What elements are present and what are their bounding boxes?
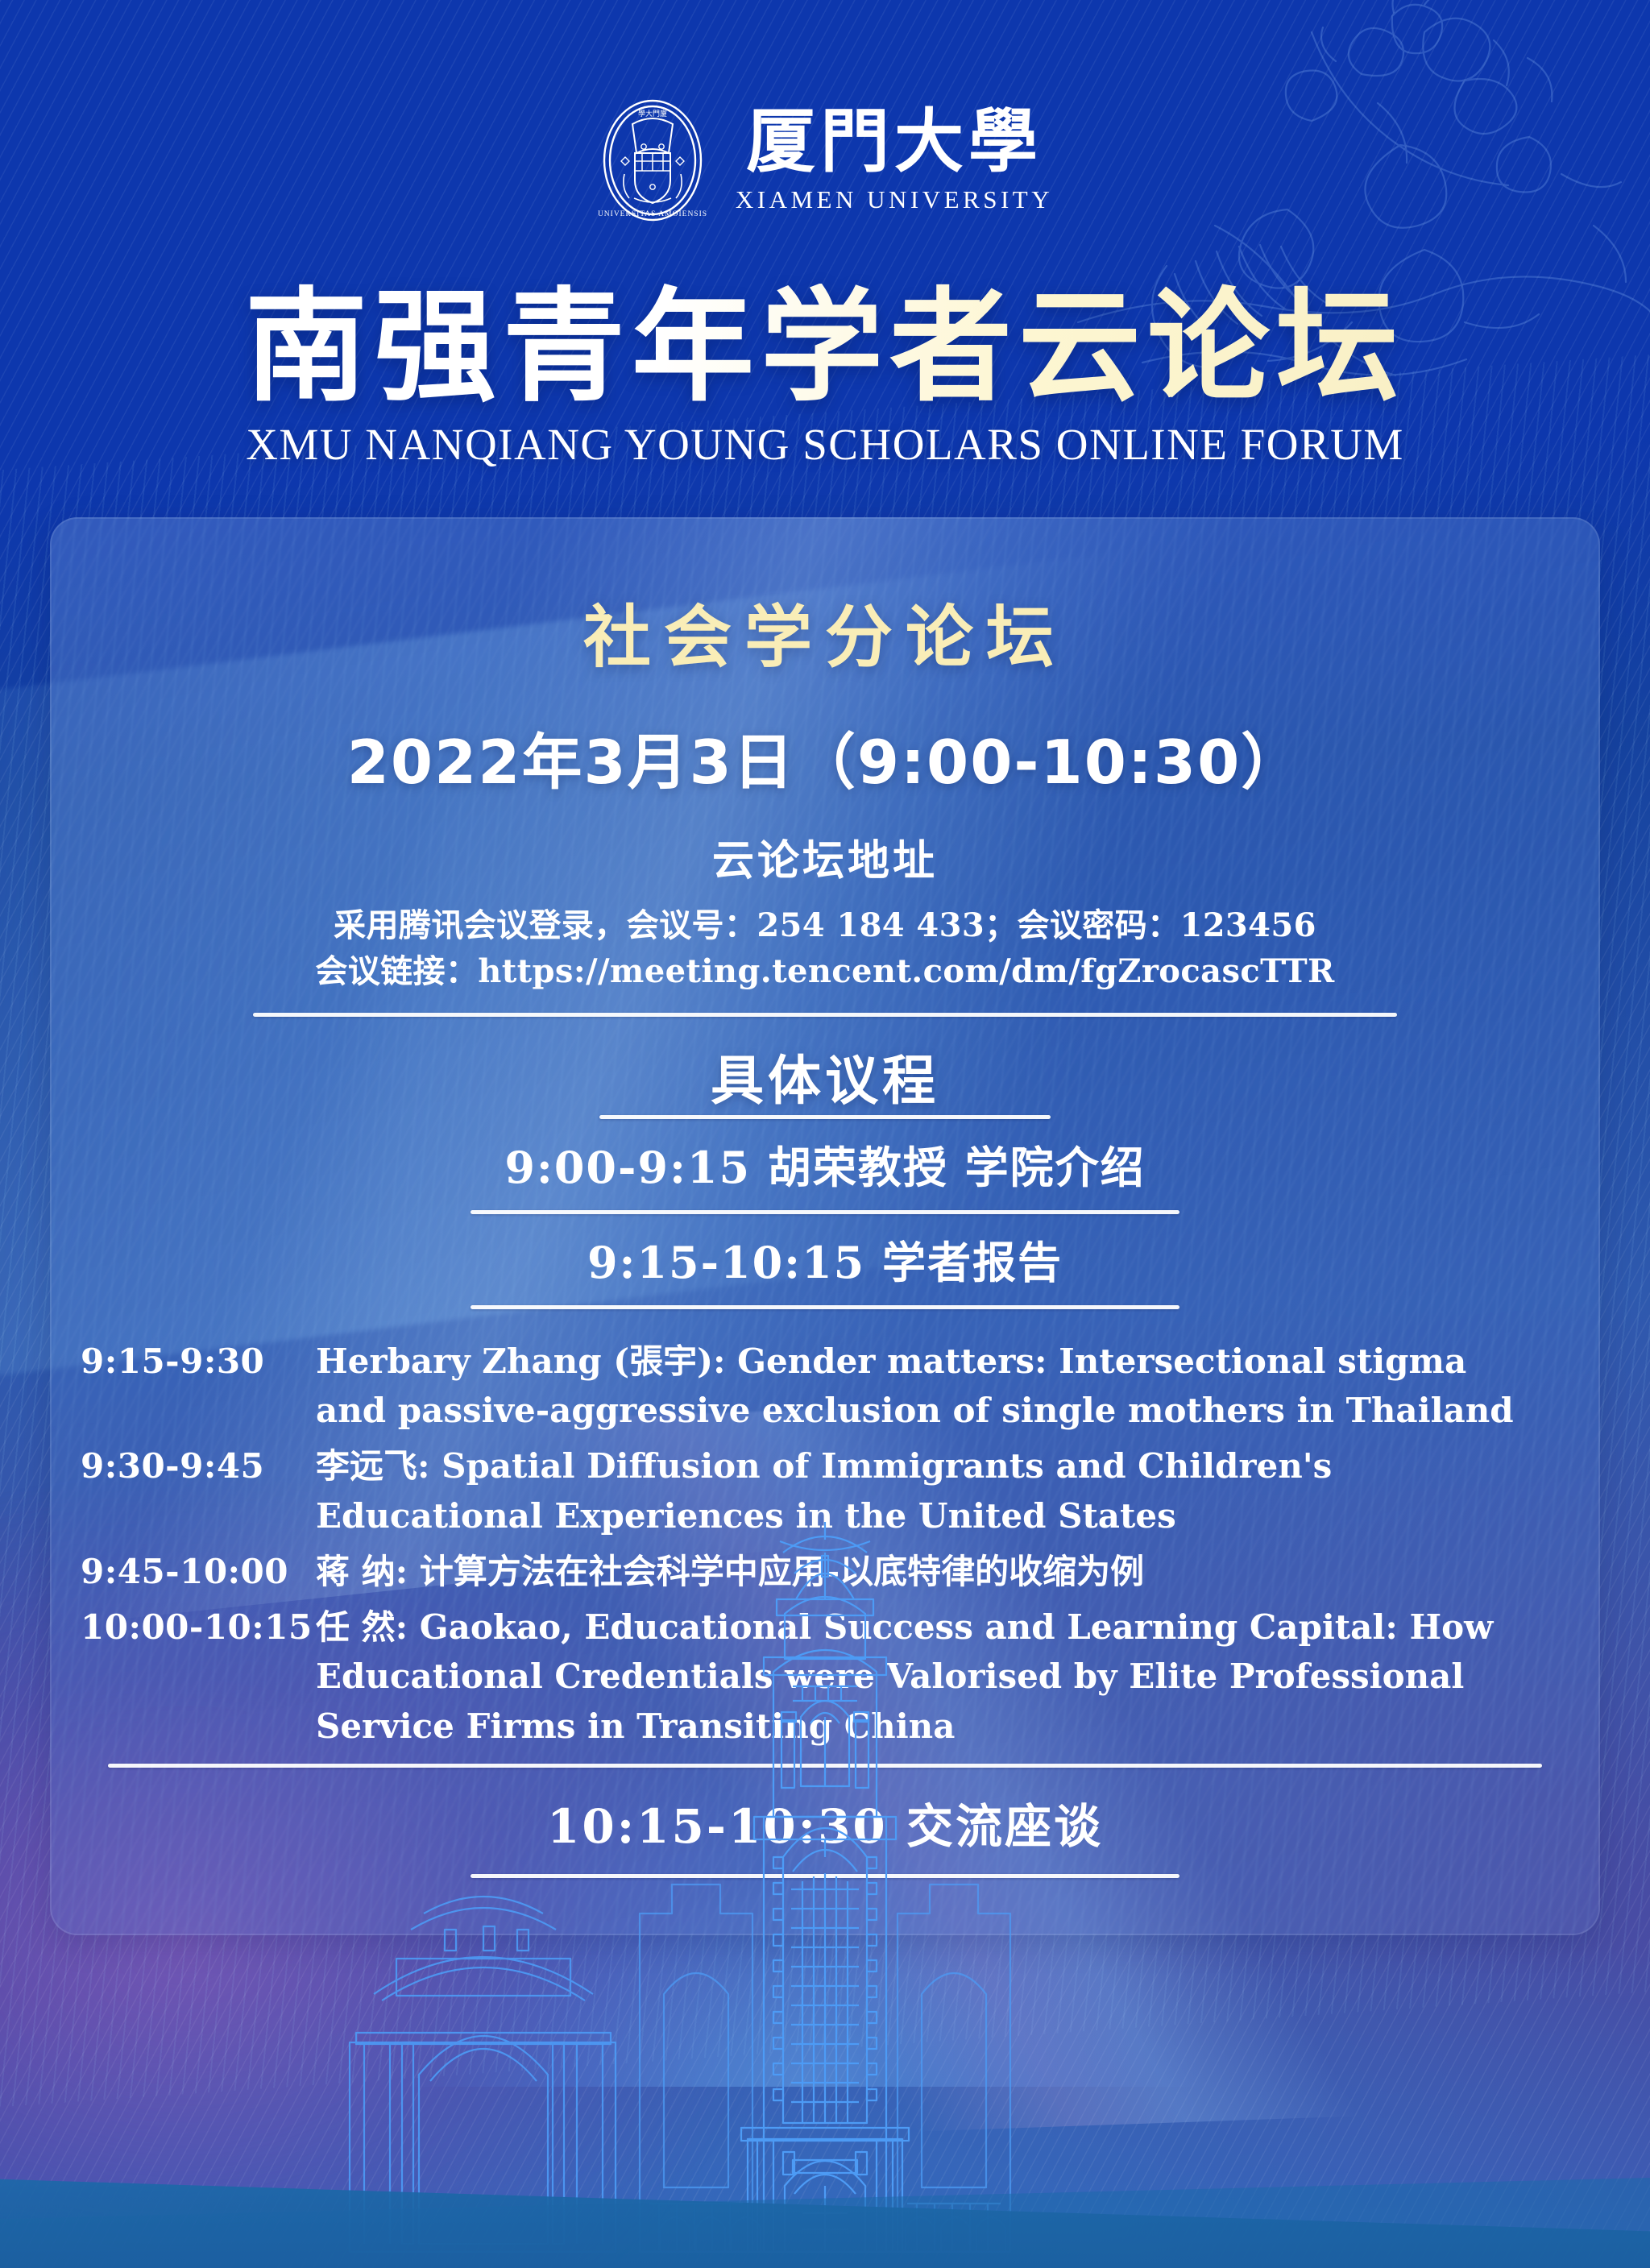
- divider-under-agenda-title: [599, 1115, 1051, 1119]
- schedule-list: 9:15-9:30 Herbary Zhang (張宇): Gender mat…: [69, 1337, 1581, 1752]
- meeting-link[interactable]: 会议链接：https://meeting.tencent.com/dm/fgZr…: [50, 949, 1600, 995]
- poster-canvas: 學大門廈 UNIVERSITAS AMOIENSIS 厦門大學 XIAMEN U…: [0, 0, 1650, 2268]
- university-name-en: XIAMEN UNIVERSITY: [736, 185, 1053, 214]
- forum-date: 2022年3月3日（9:00-10:30）: [50, 713, 1600, 801]
- schedule-time: 9:30-9:45: [69, 1441, 316, 1491]
- university-wordmark: 厦門大學 XIAMEN UNIVERSITY: [736, 107, 1053, 214]
- schedule-desc: Herbary Zhang (張宇): Gender matters: Inte…: [316, 1337, 1581, 1436]
- address-title: 云论坛地址: [50, 827, 1600, 887]
- xmu-seal-icon: 學大門廈 UNIVERSITAS AMOIENSIS: [597, 97, 708, 224]
- svg-text:學大門廈: 學大門廈: [638, 109, 667, 118]
- svg-text:UNIVERSITAS AMOIENSIS: UNIVERSITAS AMOIENSIS: [598, 210, 707, 218]
- schedule-desc: 蒋 纳: 计算方法在社会科学中应用-以底特律的收缩为例: [316, 1547, 1581, 1596]
- agenda-talks-header: 9:15-10:15 学者报告: [50, 1214, 1600, 1305]
- schedule-desc: 任 然: Gaokao, Educational Success and Lea…: [316, 1603, 1581, 1751]
- schedule-time: 10:00-10:15: [69, 1603, 316, 1652]
- sub-forum-title: 社会学分论坛: [50, 583, 1600, 681]
- university-header: 學大門廈 UNIVERSITAS AMOIENSIS 厦門大學 XIAMEN U…: [0, 97, 1650, 224]
- forum-title-block: 南强青年学者云论坛 XMU NANQIANG YOUNG SCHOLARS ON…: [0, 284, 1650, 470]
- closing-block: 10:15-10:30 交流座谈: [50, 1764, 1600, 1878]
- forum-title-en: XMU NANQIANG YOUNG SCHOLARS ONLINE FORUM: [0, 419, 1650, 470]
- table-row: 9:15-9:30 Herbary Zhang (張宇): Gender mat…: [69, 1337, 1581, 1436]
- university-name-cn: 厦門大學: [746, 107, 1043, 176]
- schedule-time: 9:45-10:00: [69, 1547, 316, 1596]
- divider-above-agenda: [253, 1013, 1397, 1017]
- agenda-section-title: 具体议程: [50, 1038, 1600, 1115]
- content-body: 社会学分论坛 2022年3月3日（9:00-10:30） 云论坛地址 采用腾讯会…: [50, 517, 1600, 1935]
- closing-session: 10:15-10:30 交流座谈: [50, 1768, 1600, 1874]
- address-block: 采用腾讯会议登录，会议号：254 184 433；会议密码：123456 会议链…: [50, 903, 1600, 995]
- agenda-intro-line: 9:00-9:15 胡荣教授 学院介绍: [50, 1119, 1600, 1210]
- divider-under-closing: [471, 1874, 1179, 1878]
- table-row: 9:30-9:45 李远飞: Spatial Diffusion of Immi…: [69, 1441, 1581, 1540]
- divider-above-closing: [108, 1764, 1542, 1768]
- divider-above-talks: [471, 1210, 1179, 1214]
- schedule-desc: 李远飞: Spatial Diffusion of Immigrants and…: [316, 1441, 1581, 1540]
- schedule-time: 9:15-9:30: [69, 1337, 316, 1386]
- table-row: 10:00-10:15 任 然: Gaokao, Educational Suc…: [69, 1603, 1581, 1751]
- forum-title-cn: 南强青年学者云论坛: [0, 284, 1650, 411]
- table-row: 9:45-10:00 蒋 纳: 计算方法在社会科学中应用-以底特律的收缩为例: [69, 1547, 1581, 1596]
- meeting-credentials: 采用腾讯会议登录，会议号：254 184 433；会议密码：123456: [50, 903, 1600, 949]
- divider-under-talks: [471, 1305, 1179, 1309]
